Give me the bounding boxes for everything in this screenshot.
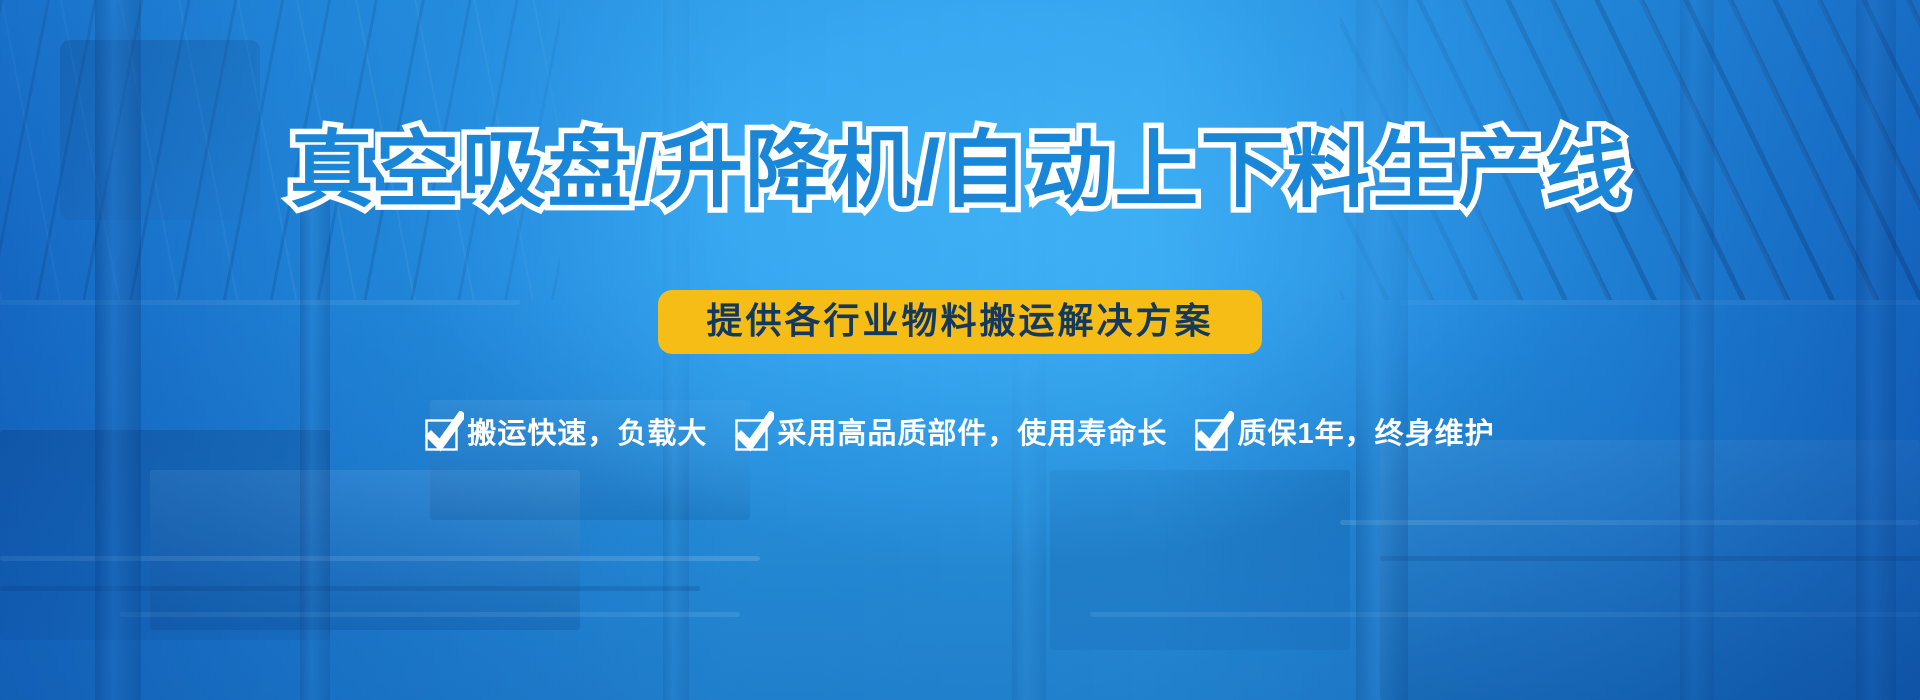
feature-item: 搬运快速，负载大: [425, 418, 707, 451]
feature-list: 搬运快速，负载大 采用高品质部件，使用寿命长: [0, 418, 1920, 451]
feature-item: 质保1年，终身维护: [1195, 418, 1494, 451]
banner-headline: 真空吸盘/升降机/自动上下料生产线: [0, 124, 1920, 216]
feature-item: 采用高品质部件，使用寿命长: [735, 418, 1167, 451]
hero-banner: 真空吸盘/升降机/自动上下料生产线 提供各行业物料搬运解决方案 搬运快速，负载大: [0, 0, 1920, 700]
banner-subtitle-container: 提供各行业物料搬运解决方案: [0, 290, 1920, 354]
banner-subtitle-pill: 提供各行业物料搬运解决方案: [658, 290, 1261, 354]
checkbox-checked-icon: [425, 418, 458, 451]
checkbox-checked-icon: [1195, 418, 1228, 451]
feature-label: 搬运快速，负载大: [467, 418, 707, 451]
feature-label: 质保1年，终身维护: [1237, 418, 1494, 451]
banner-content: 真空吸盘/升降机/自动上下料生产线 提供各行业物料搬运解决方案 搬运快速，负载大: [0, 0, 1920, 700]
checkbox-checked-icon: [735, 418, 768, 451]
feature-label: 采用高品质部件，使用寿命长: [777, 418, 1167, 451]
